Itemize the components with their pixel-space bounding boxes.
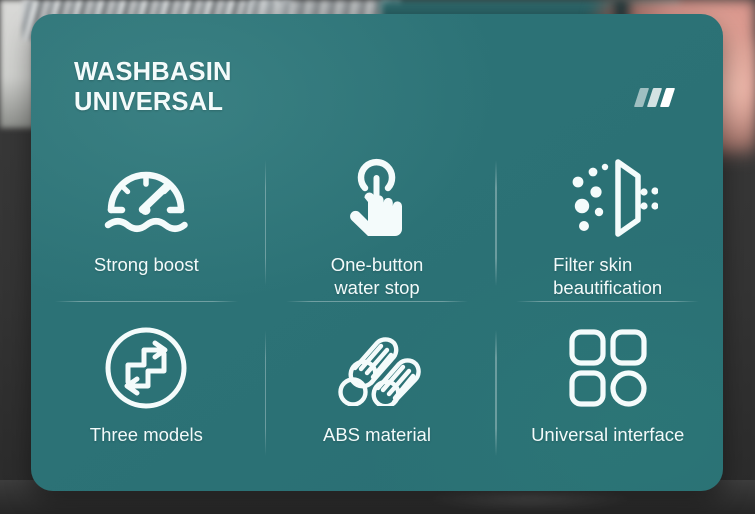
brand-mark-bar-3 [660,88,675,107]
feature-item-one-button-water-stop[interactable]: One-button water stop [262,138,493,308]
feature-label: Universal interface [531,423,684,446]
gauge-water-icon [100,152,192,244]
page-title: WASHBASIN UNIVERSAL [74,57,674,118]
card-header: WASHBASIN UNIVERSAL [74,57,674,118]
feature-label: One-button water stop [331,253,424,300]
grid-divider-vertical-right-bottom [495,330,496,456]
cell-divider-horizontal [516,301,699,302]
hand-tap-button-icon [335,152,419,244]
feature-label: Filter skin beautification [553,253,662,300]
brand-mark-icon [637,88,679,108]
feature-item-three-models[interactable]: Three models [31,308,262,478]
cell-divider-horizontal [286,301,469,302]
feature-label: Strong boost [94,253,199,276]
feature-item-strong-boost[interactable]: Strong boost [31,138,262,308]
feature-card: WASHBASIN UNIVERSAL [31,14,723,491]
grid-interface-icon [567,322,649,414]
feature-item-universal-interface[interactable]: Universal interface [492,308,723,478]
feature-label: Three models [90,423,203,446]
feature-item-abs-material[interactable]: ABS material [262,308,493,478]
two-way-arrows-circle-icon [103,322,189,414]
filter-skin-icon [558,152,658,244]
page-title-line-2: UNIVERSAL [74,87,674,117]
stacked-pipes-icon [333,322,421,414]
feature-grid: Strong boost One-button water stop [31,138,723,478]
cell-divider-horizontal [55,301,238,302]
page-title-line-1: WASHBASIN [74,57,674,87]
grid-divider-vertical-right-top [495,160,496,286]
feature-label: ABS material [323,423,431,446]
feature-item-filter-skin-beautification[interactable]: Filter skin beautification [492,138,723,308]
